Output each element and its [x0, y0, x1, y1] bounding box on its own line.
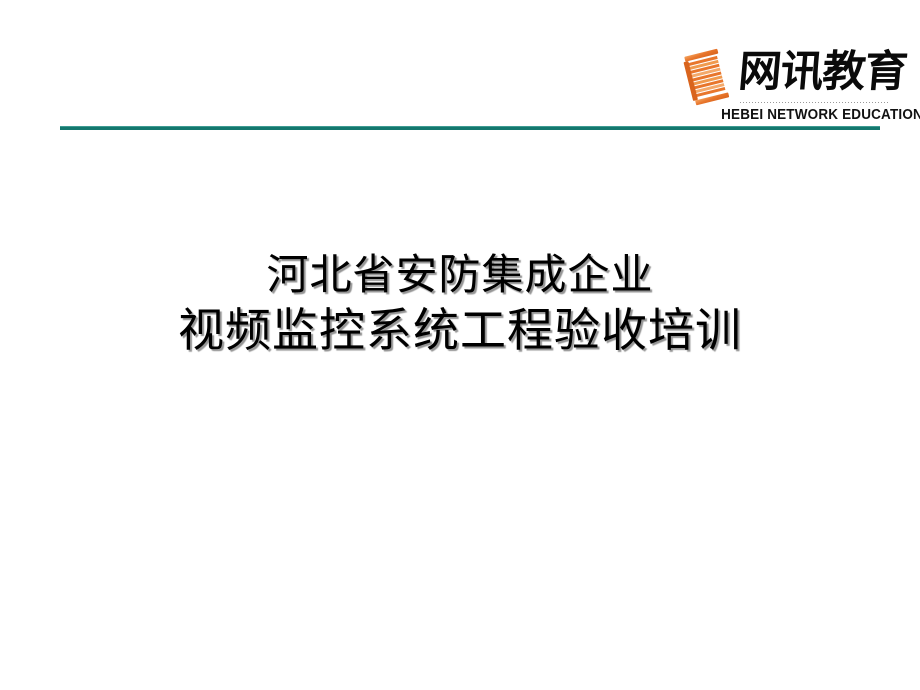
brand-logo: 网讯教育 HEBEI NETWORK EDUCATION	[670, 40, 890, 128]
title-line-2: 视频监控系统工程验收培训	[0, 302, 920, 358]
orange-spool-logo-icon	[680, 46, 734, 110]
title-slide: 网讯教育 HEBEI NETWORK EDUCATION 河北省安防集成企业 视…	[0, 0, 920, 690]
logo-subtitle: HEBEI NETWORK EDUCATION	[721, 106, 884, 124]
header-divider-rule	[60, 126, 880, 130]
title-line-1: 河北省安防集成企业	[0, 248, 920, 302]
logo-hairline-divider	[740, 102, 888, 103]
page-title: 河北省安防集成企业 视频监控系统工程验收培训	[0, 248, 920, 358]
logo-wordmark: 网讯教育	[736, 46, 893, 102]
